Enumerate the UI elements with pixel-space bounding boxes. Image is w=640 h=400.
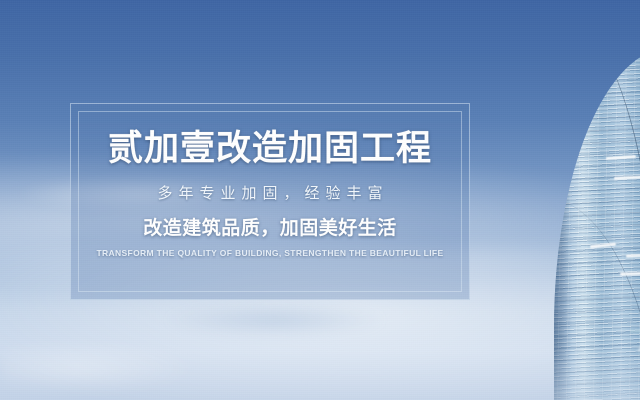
- banner-headline: 贰加壹改造加固工程: [108, 131, 432, 166]
- banner-tagline: 改造建筑品质，加固美好生活: [143, 219, 397, 238]
- tower-base-haze: [554, 342, 640, 400]
- hero-banner: 贰加壹改造加固工程 多年专业加固，经验丰富 改造建筑品质，加固美好生活 TRAN…: [0, 0, 640, 400]
- cloud-wisp-icon: [166, 304, 384, 336]
- skyscraper-building: [548, 48, 640, 400]
- text-panel: 贰加壹改造加固工程 多年专业加固，经验丰富 改造建筑品质，加固美好生活 TRAN…: [70, 103, 470, 300]
- glass-glint-icon: [626, 253, 640, 257]
- cloud-wisp-icon: [0, 344, 192, 392]
- tower-window: [630, 330, 640, 333]
- panel-content: 贰加壹改造加固工程 多年专业加固，经验丰富 改造建筑品质，加固美好生活 TRAN…: [71, 104, 469, 299]
- tower-body: [554, 48, 640, 400]
- banner-subline: 多年专业加固，经验丰富: [151, 186, 388, 201]
- banner-english-tagline: TRANSFORM THE QUALITY OF BUILDING, STREN…: [97, 249, 444, 258]
